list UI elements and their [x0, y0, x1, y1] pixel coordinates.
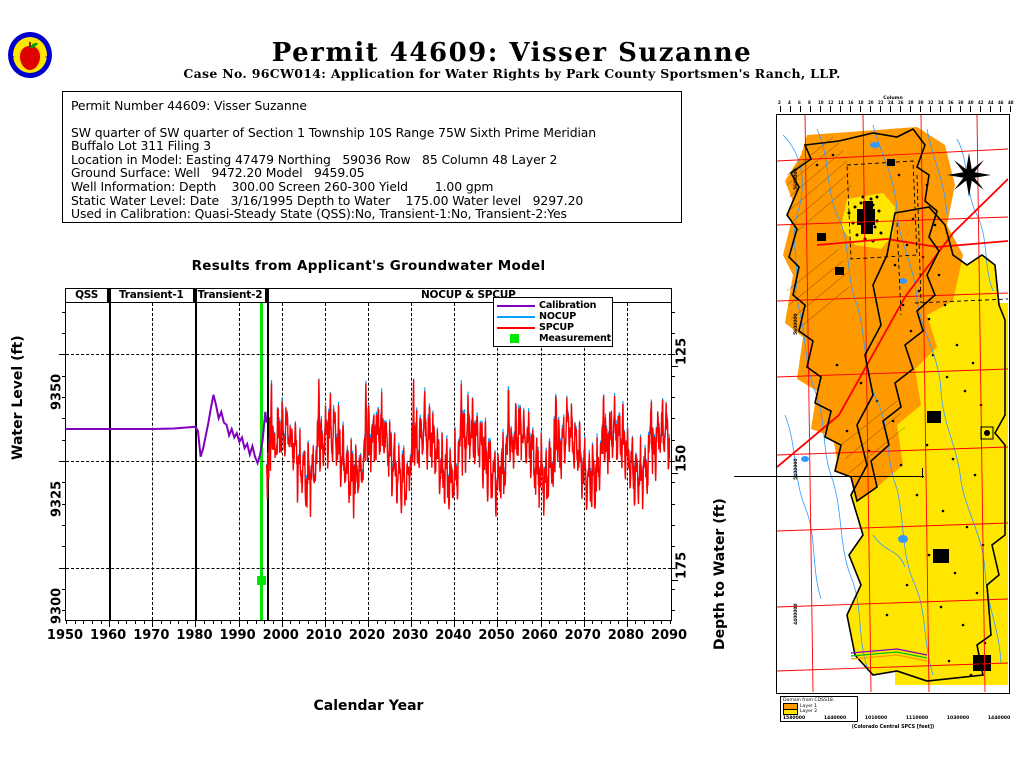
x-minor-tick [213, 620, 214, 624]
x-minor-tick [351, 620, 352, 624]
y-minor-tick [62, 525, 66, 526]
period-label-0: QSS [66, 289, 109, 302]
x-axis-title: Calendar Year [65, 698, 672, 714]
groundwater-chart: Results from Applicant's Groundwater Mod… [0, 250, 740, 730]
x-tick-label-2040: 2040 [435, 628, 471, 643]
y2-tick-label-150: 150 [675, 445, 690, 472]
gridline-h-9350 [66, 354, 671, 355]
y2-minor-tick [671, 418, 675, 419]
legend-item-nocup: NOCUP [497, 311, 609, 322]
info-line-2: SW quarter of SW quarter of Section 1 To… [71, 126, 673, 140]
y-minor-tick [62, 440, 66, 441]
y2-tick-150 [671, 473, 678, 474]
x-tick-label-2060: 2060 [521, 628, 557, 643]
x-minor-tick [316, 620, 317, 624]
x-tick-label-2030: 2030 [392, 628, 428, 643]
measurement-point[interactable] [257, 576, 266, 585]
x-tick-label-2080: 2080 [608, 628, 644, 643]
x-minor-tick [428, 620, 429, 624]
legend-swatch-nocup [497, 316, 535, 318]
permit-info-box: Permit Number 44609: Visser Suzanne SW q… [62, 91, 682, 223]
y2-tick-125 [671, 366, 678, 367]
map-x-axis-title: (Colorado Central SPCS [feet]) [776, 725, 1010, 730]
x-minor-tick [178, 620, 179, 624]
gridline-h-9300 [66, 568, 671, 569]
x-minor-tick [627, 620, 628, 624]
map-y-tick-3: 4400000 [794, 604, 799, 625]
gridline-h-9325 [66, 461, 671, 462]
x-minor-tick [195, 620, 196, 624]
well-callout-line [734, 476, 924, 477]
y2-minor-tick [671, 440, 675, 441]
x-minor-tick [566, 620, 567, 624]
x-minor-tick [264, 620, 265, 624]
y2-minor-tick [671, 333, 675, 334]
y2-minor-tick [671, 504, 675, 505]
x-minor-tick [411, 620, 412, 624]
map-x-tick-1: 1440000 [824, 716, 846, 721]
info-line-4: Location in Model: Easting 47479 Northin… [71, 153, 673, 167]
y-minor-tick [62, 312, 66, 313]
model-domain-map[interactable]: Column [762, 96, 1020, 746]
x-tick-label-2090: 2090 [651, 628, 687, 643]
period-label-2: Transient-2 [195, 289, 266, 302]
x-minor-tick [83, 620, 84, 624]
x-minor-tick [420, 620, 421, 624]
x-minor-tick [230, 620, 231, 624]
map-y-tick-2: 5400000 [794, 459, 799, 480]
info-line-8: Used in Calibration: Quasi-Steady State … [71, 207, 673, 221]
x-minor-tick [308, 620, 309, 624]
x-minor-tick [109, 620, 110, 624]
x-minor-tick [454, 620, 455, 624]
x-minor-tick [601, 620, 602, 624]
x-minor-tick [523, 620, 524, 624]
map-graphic [777, 115, 1008, 692]
x-minor-tick [463, 620, 464, 624]
x-minor-tick [584, 620, 585, 624]
x-minor-tick [118, 620, 119, 624]
y-minor-tick [62, 333, 66, 334]
x-minor-tick [618, 620, 619, 624]
x-tick-label-1970: 1970 [133, 628, 169, 643]
x-minor-tick [368, 620, 369, 624]
period-label-1: Transient-1 [109, 289, 195, 302]
x-minor-tick [161, 620, 162, 624]
y2-minor-tick [671, 589, 675, 590]
x-minor-tick [515, 620, 516, 624]
y-tick-label-9350: 9350 [50, 353, 65, 410]
info-line-3: Buffalo Lot 311 Filing 3 [71, 139, 673, 153]
x-minor-tick [66, 620, 67, 624]
x-minor-tick [152, 620, 153, 624]
x-minor-tick [532, 620, 533, 624]
y2-tick-label-175: 175 [675, 552, 690, 579]
x-minor-tick [126, 620, 127, 624]
x-minor-tick [394, 620, 395, 624]
x-minor-tick [497, 620, 498, 624]
x-tick-label-1950: 1950 [47, 628, 83, 643]
x-minor-tick [101, 620, 102, 624]
x-tick-label-2010: 2010 [306, 628, 342, 643]
map-legend-label-layer2: Layer 2 [800, 709, 817, 715]
map-canvas[interactable] [776, 114, 1010, 694]
y2-minor-tick [671, 312, 675, 313]
legend-label-calibration: Calibration [539, 300, 596, 311]
period-separator-2 [267, 289, 269, 620]
info-line-0: Permit Number 44609: Visser Suzanne [71, 99, 673, 113]
well-callout-tick [922, 468, 923, 478]
x-minor-tick [333, 620, 334, 624]
x-minor-tick [247, 620, 248, 624]
x-minor-tick [610, 620, 611, 624]
x-minor-tick [204, 620, 205, 624]
x-minor-tick [635, 620, 636, 624]
x-tick-label-2020: 2020 [349, 628, 385, 643]
x-tick-label-1990: 1990 [219, 628, 255, 643]
legend-label-measurement: Measurement [539, 333, 611, 344]
x-minor-tick [661, 620, 662, 624]
y-tick-label-9300: 9300 [50, 567, 65, 624]
x-minor-tick [299, 620, 300, 624]
y2-tick-175 [671, 580, 678, 581]
x-minor-tick [403, 620, 404, 624]
x-minor-tick [92, 620, 93, 624]
x-minor-tick [506, 620, 507, 624]
x-minor-tick [239, 620, 240, 624]
map-x-tick-2: 1010000 [865, 716, 887, 721]
x-minor-tick [437, 620, 438, 624]
y-tick-label-9325: 9325 [50, 460, 65, 517]
map-legend-swatch-layer2 [783, 709, 798, 716]
x-minor-tick [472, 620, 473, 624]
y2-minor-tick [671, 397, 675, 398]
info-spacer [71, 113, 673, 126]
x-tick-label-2050: 2050 [478, 628, 514, 643]
x-minor-tick [592, 620, 593, 624]
map-x-tick-5: 1440000 [988, 716, 1010, 721]
y2-minor-tick [671, 610, 675, 611]
y2-minor-tick [671, 525, 675, 526]
map-x-tick-3: 1110000 [906, 716, 928, 721]
map-legend-item-layer2: Layer 2 [783, 709, 855, 715]
map-y-tick-1: 5600000 [794, 314, 799, 335]
page-subtitle: Case No. 96CW014: Application for Water … [0, 66, 1024, 81]
map-x-tick-4: 1030000 [947, 716, 969, 721]
x-minor-tick [282, 620, 283, 624]
x-minor-tick [290, 620, 291, 624]
y-minor-tick [62, 418, 66, 419]
x-minor-tick [644, 620, 645, 624]
x-minor-tick [170, 620, 171, 624]
x-minor-tick [575, 620, 576, 624]
info-line-5: Ground Surface: Well 9472.20 Model 9459.… [71, 166, 673, 180]
info-line-7: Static Water Level: Date 3/16/1995 Depth… [71, 194, 673, 208]
x-minor-tick [670, 620, 671, 624]
legend-item-calibration: Calibration [497, 300, 609, 311]
legend-swatch-calibration [497, 305, 535, 307]
x-minor-tick [480, 620, 481, 624]
y2-minor-tick [671, 376, 675, 377]
map-top-ticks: 2468101214161820222426283032343638404244… [776, 104, 1010, 112]
x-tick-label-2070: 2070 [565, 628, 601, 643]
x-tick-label-1960: 1960 [90, 628, 126, 643]
x-minor-tick [75, 620, 76, 624]
x-minor-tick [187, 620, 188, 624]
legend-item-spcup: SPCUP [497, 322, 609, 333]
x-minor-tick [489, 620, 490, 624]
chart-title: Results from Applicant's Groundwater Mod… [65, 258, 672, 274]
x-minor-tick [221, 620, 222, 624]
legend-label-nocup: NOCUP [539, 311, 576, 322]
legend-label-spcup: SPCUP [539, 322, 574, 333]
x-minor-tick [273, 620, 274, 624]
x-minor-tick [144, 620, 145, 624]
legend-swatch-spcup [497, 327, 535, 329]
x-minor-tick [325, 620, 326, 624]
x-minor-tick [446, 620, 447, 624]
legend-swatch-measurement [497, 333, 535, 344]
x-tick-label-2000: 2000 [263, 628, 299, 643]
x-minor-tick [256, 620, 257, 624]
x-minor-tick [342, 620, 343, 624]
y2-tick-label-125: 125 [675, 338, 690, 365]
y-minor-tick [62, 546, 66, 547]
map-y-tick-0: 5600000 [794, 169, 799, 190]
x-minor-tick [359, 620, 360, 624]
y2-minor-tick [671, 546, 675, 547]
x-minor-tick [549, 620, 550, 624]
x-minor-tick [385, 620, 386, 624]
map-x-tick-0: 1580000 [783, 716, 805, 721]
x-minor-tick [653, 620, 654, 624]
x-minor-tick [135, 620, 136, 624]
y2-axis-title: Depth to Water (ft) [712, 498, 728, 650]
x-tick-label-1980: 1980 [176, 628, 212, 643]
info-line-6: Well Information: Depth 300.00 Screen 26… [71, 180, 673, 194]
chart-legend: Calibration NOCUP SPCUP Measurement [493, 297, 613, 347]
x-minor-tick [541, 620, 542, 624]
y-axis-title: Water Level (ft) [10, 335, 26, 460]
x-minor-tick [558, 620, 559, 624]
x-minor-tick [377, 620, 378, 624]
legend-item-measurement: Measurement [497, 333, 609, 344]
y2-minor-tick [671, 482, 675, 483]
page-title: Permit 44609: Visser Suzanne [0, 38, 1024, 68]
